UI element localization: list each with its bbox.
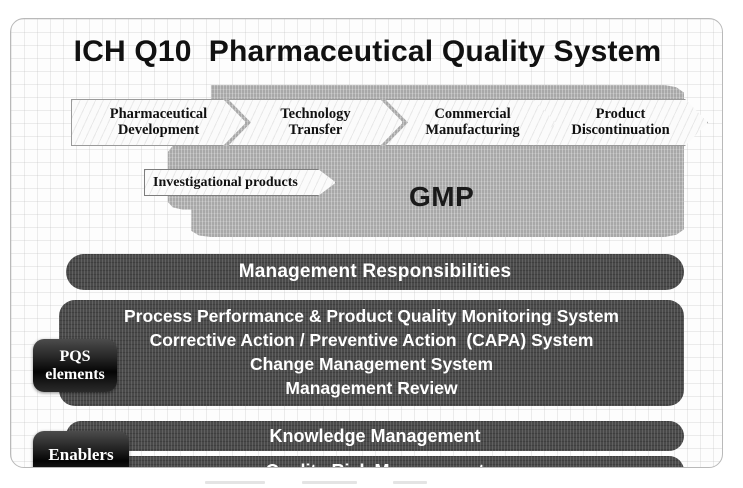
diagram-card: ICH Q10 Pharmaceutical Quality System GM… — [10, 18, 723, 468]
ich-q10-diagram: ICH Q10 Pharmaceutical Quality System GM… — [0, 0, 743, 488]
lifecycle-stage-label: Commercial Manufacturing — [425, 107, 519, 137]
badge-label: Enablers — [48, 446, 113, 465]
lifecycle-stage-label: Technology Transfer — [280, 107, 350, 137]
page-title: ICH Q10 Pharmaceutical Quality System — [11, 35, 723, 69]
lifecycle-arrow-row: Pharmaceutical Development Technology Tr… — [71, 99, 708, 146]
gmp-label: GMP — [409, 181, 474, 213]
pqs-element-line: Corrective Action / Preventive Action (C… — [150, 329, 594, 353]
scan-artifact — [205, 481, 265, 484]
band-management-responsibilities: Management Responsibilities — [66, 254, 684, 290]
band-pqs-elements: Process Performance & Product Quality Mo… — [59, 300, 684, 406]
scan-artifact — [393, 481, 427, 484]
scan-artifact — [302, 481, 357, 484]
band-label: Knowledge Management — [269, 426, 480, 447]
lifecycle-stage-label: Pharmaceutical Development — [110, 107, 207, 137]
pqs-element-line: Management Review — [285, 377, 457, 401]
lifecycle-stage-technology-transfer[interactable]: Technology Transfer — [228, 99, 403, 146]
badge-label: PQS elements — [45, 348, 105, 383]
investigational-products-label: Investigational products — [153, 175, 298, 191]
lifecycle-stage-label: Product Discontinuation — [571, 107, 669, 137]
band-label: Quality Risk Management — [265, 461, 484, 469]
band-label: Management Responsibilities — [239, 261, 512, 283]
lifecycle-stage-product-discontinuation[interactable]: Product Discontinuation — [533, 99, 708, 146]
pqs-element-line: Change Management System — [250, 353, 493, 377]
lifecycle-stage-pharmaceutical-development[interactable]: Pharmaceutical Development — [71, 99, 246, 146]
badge-enablers: Enablers — [33, 431, 129, 468]
band-knowledge-management: Knowledge Management — [66, 421, 684, 451]
band-quality-risk-management: Quality Risk Management — [66, 456, 684, 468]
pqs-element-line: Process Performance & Product Quality Mo… — [124, 305, 619, 329]
investigational-products-arrow[interactable]: Investigational products — [144, 169, 336, 196]
badge-pqs-elements: PQS elements — [33, 339, 117, 392]
lifecycle-stage-commercial-manufacturing[interactable]: Commercial Manufacturing — [385, 99, 560, 146]
